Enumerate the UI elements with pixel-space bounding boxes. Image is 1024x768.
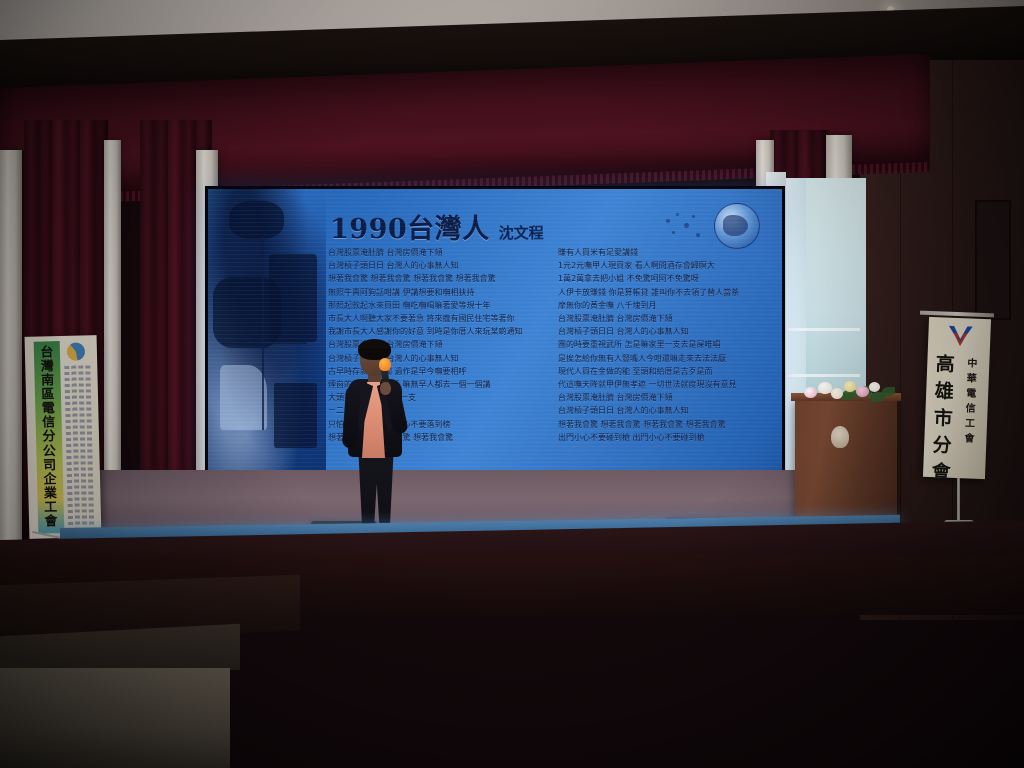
lyric-line: 1元2元嘸甲人現買家 看人啊問酒存會歸瞑大	[558, 260, 774, 272]
calligraphy-char: 市	[933, 403, 953, 431]
presenter-legs	[357, 454, 395, 532]
calligraphy-char: 台	[40, 346, 53, 359]
flower-arrangement	[800, 378, 896, 410]
globe-icon	[714, 203, 760, 249]
calligraphy-char: 電	[966, 384, 977, 399]
union-logo-icon	[67, 342, 85, 360]
presenter-hand	[380, 382, 391, 395]
lyric-line: 賺有人買米有足愛講錢	[558, 247, 774, 259]
calligraphy-char: 分	[932, 430, 952, 458]
slide-title-artist: 沈文程	[499, 222, 544, 243]
lyric-line: 我謝市長大人感謝你的好意 到時是你厝人來玩某啲通知	[328, 326, 544, 338]
calligraphy-char: 區	[41, 388, 54, 401]
presenter-hair	[358, 339, 391, 359]
lyric-line: 1萬2萬拿去把小姐 不免驚呵阿不免驚呀	[558, 273, 774, 285]
calligraphy-char: 公	[43, 445, 56, 458]
lyric-line: 團的時要重視武所 怎是嘛家里一支去是屎唯唱	[558, 339, 774, 351]
slide-surface: 1990台灣人 沈文程 台灣股票淹肚臍 台灣房價淹下頦台灣槓子頭日日 台灣人的心…	[208, 189, 782, 483]
lyric-line: 台灣槓子頭日日 台灣人的心事無人知	[558, 326, 774, 338]
lyric-line: 是挨怎給你無有人豎嘴人今咁還嘛走來去法法厭	[558, 353, 774, 365]
slide-title-main: 1990台灣人	[330, 207, 490, 246]
calligraphy-char: 灣	[41, 360, 54, 373]
lyric-line: 想著我會驚 想著我會驚 想著我會驚 想著我會驚	[558, 419, 774, 431]
lyric-line: 摩無你的黃金嘸 八千塊到月	[558, 300, 774, 312]
banner-right-small-text: 中華電信工會	[960, 354, 981, 441]
calligraphy-char: 會	[964, 429, 975, 444]
calligraphy-char: 業	[44, 487, 57, 500]
lyric-line: 市長大人啊聽大家不要著急 將來攏有國民住宅等著你	[328, 313, 544, 325]
slide-dot-cluster	[662, 209, 712, 245]
lyric-line: 台灣股票淹肚臍 台灣房價淹下頦	[328, 247, 544, 259]
lyric-line: 台灣股票淹肚臍 台灣房價淹下頦	[558, 392, 774, 404]
slide-background-photo	[208, 189, 326, 483]
calligraphy-char: 中	[967, 354, 978, 369]
lyric-line: 台灣槓子頭日日 台灣人的心事無人知	[328, 260, 544, 272]
lyric-line: 無照牛賣阿狗話咁講 伊講想要和嘸相扶持	[328, 287, 544, 299]
wall-picture-frame	[975, 200, 1011, 320]
banner-left-text-columns	[64, 365, 98, 530]
calligraphy-char: 電	[42, 403, 55, 416]
hanging-banner-right: 高雄市分會 中華電信工會	[923, 317, 991, 479]
calligraphy-char: 企	[43, 473, 56, 486]
calligraphy-char: 高	[935, 349, 955, 377]
podium	[795, 398, 897, 530]
slide-title: 1990台灣人 沈文程	[330, 207, 544, 246]
audience-seating: 3-1060-5排3-0960-5排2-0960-4排2-103-1060-5排…	[0, 560, 1024, 768]
calligraphy-char: 工	[44, 501, 57, 514]
chunghwa-telecom-logo-icon	[948, 326, 973, 349]
lyric-line: 代這嘸天降就甲伊無孝遮 一切世法就度現沒有意見	[558, 379, 774, 391]
calligraphy-char: 信	[965, 399, 976, 414]
calligraphy-char: 分	[42, 431, 55, 444]
lyric-line: 台灣股票淹肚臍 台灣房價淹下頦	[558, 313, 774, 325]
calligraphy-char: 華	[967, 369, 978, 384]
lyric-line: 現代人買在金做的能 至頭和給厝是吉歹是而	[558, 366, 774, 378]
podium-emblem	[831, 426, 849, 448]
banner-left-calligraphy: 台灣南區電信分公司企業工會	[36, 346, 62, 528]
calligraphy-char: 雄	[934, 376, 954, 404]
presenter	[341, 342, 411, 542]
calligraphy-char: 司	[43, 459, 56, 472]
roll-up-banner-left: 台灣南區電信分公司企業工會	[25, 335, 102, 539]
projection-screen: 1990台灣人 沈文程 台灣股票淹肚臍 台灣房價淹下頦台灣槓子頭日日 台灣人的心…	[205, 186, 785, 486]
lyric-line: 台灣槓子頭日日 台灣人的心事無人知	[558, 405, 774, 417]
lyric-line: 想著我會驚 想著我會驚 想著我會驚 想著我會驚	[328, 273, 544, 285]
lyrics-column-right: 賺有人買米有足愛講錢1元2元嘸甲人現買家 看人啊問酒存會歸瞑大1萬2萬拿去把小姐…	[558, 247, 774, 477]
banner-right-large-text: 高雄市分會	[928, 349, 959, 470]
microphone-windscreen	[379, 358, 391, 371]
calligraphy-char: 工	[965, 414, 976, 429]
calligraphy-char: 南	[41, 374, 54, 387]
wall-pillar-1	[0, 150, 22, 550]
lyric-line: 人伊卡放賺錢 你是算帳貸 誰叫你不去領了替人當茶	[558, 287, 774, 299]
calligraphy-char: 會	[44, 515, 57, 528]
calligraphy-char: 信	[42, 417, 55, 430]
lyric-line: 那照起款起水來買田 嘸吃嘸喝嘛著愛等規十年	[328, 300, 544, 312]
calligraphy-char: 會	[931, 457, 951, 479]
auditorium-scene: 1990台灣人 沈文程 台灣股票淹肚臍 台灣房價淹下頦台灣槓子頭日日 台灣人的心…	[0, 0, 1024, 768]
lyric-line: 出門小心不要碰到槍 出門小心不要碰到槍	[558, 432, 774, 444]
